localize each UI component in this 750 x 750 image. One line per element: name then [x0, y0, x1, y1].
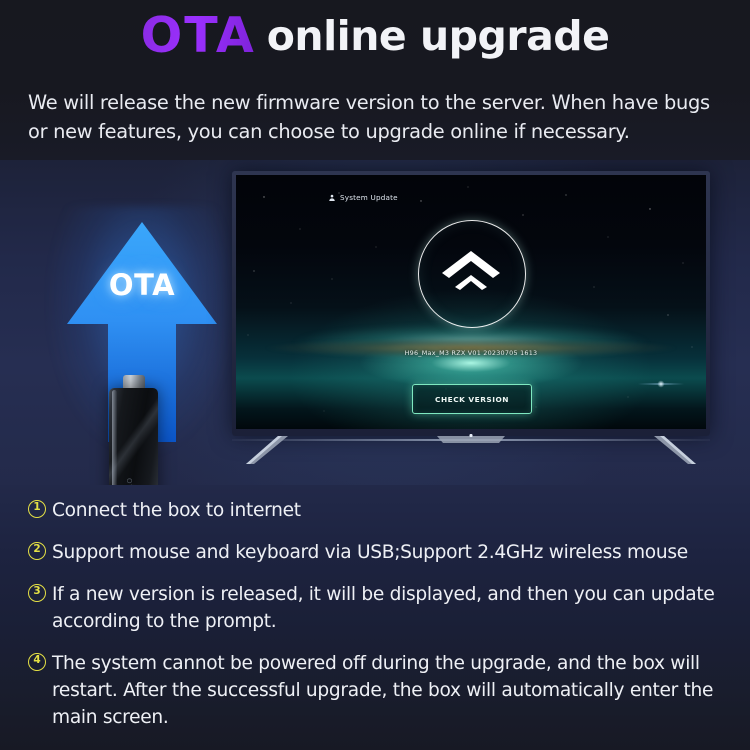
ota-upgrade-infographic: OTAonline upgrade We will release the ne…	[0, 0, 750, 750]
device-sheen	[109, 388, 158, 490]
list-item: 2 Support mouse and keyboard via USB;Sup…	[28, 539, 734, 566]
list-item-marker: 1	[28, 500, 46, 518]
double-chevron-up-icon	[438, 247, 504, 291]
arrow-label: OTA	[64, 268, 220, 302]
list-item-marker: 3	[28, 584, 46, 602]
horizon-band	[236, 335, 706, 361]
tv-stand-legs	[232, 434, 710, 471]
firmware-version-text: H96_Max_M3 RZX V01 20230705 1613	[236, 349, 706, 357]
instruction-list: 1 Connect the box to internet 2 Support …	[28, 497, 734, 746]
lens-flare-decoration	[631, 373, 691, 395]
header-subtitle: We will release the new firmware version…	[28, 88, 734, 146]
list-item-text: If a new version is released, it will be…	[52, 581, 734, 635]
list-item-marker: 4	[28, 653, 46, 671]
check-version-button[interactable]: CHECK VERSION	[412, 384, 532, 414]
list-item-marker: 2	[28, 542, 46, 560]
title-ota-word: OTA	[141, 7, 256, 64]
header-band: OTAonline upgrade We will release the ne…	[0, 0, 750, 160]
list-item: 3 If a new version is released, it will …	[28, 581, 734, 635]
page-title: OTAonline upgrade	[0, 7, 750, 64]
tv-screen: System Update H96_Max_M3 RZX V01 2023070…	[236, 175, 706, 429]
person-icon	[328, 194, 336, 202]
instructions-band: 1 Connect the box to internet 2 Support …	[0, 485, 750, 750]
list-item-text: Support mouse and keyboard via USB;Suppo…	[52, 539, 688, 566]
list-item: 1 Connect the box to internet	[28, 497, 734, 524]
list-item-text: Connect the box to internet	[52, 497, 301, 524]
usb-connector	[123, 375, 145, 389]
system-update-status: System Update	[328, 193, 398, 202]
scene-band: OTA OTA-86	[0, 160, 750, 490]
list-item-text: The system cannot be powered off during …	[52, 650, 734, 731]
title-rest-words: online upgrade	[267, 12, 610, 60]
system-update-label: System Update	[340, 193, 398, 202]
television: System Update H96_Max_M3 RZX V01 2023070…	[232, 171, 710, 471]
list-item: 4 The system cannot be powered off durin…	[28, 650, 734, 731]
device-body: OTA-86	[109, 388, 158, 490]
tv-stick-device: OTA-86	[105, 375, 161, 490]
